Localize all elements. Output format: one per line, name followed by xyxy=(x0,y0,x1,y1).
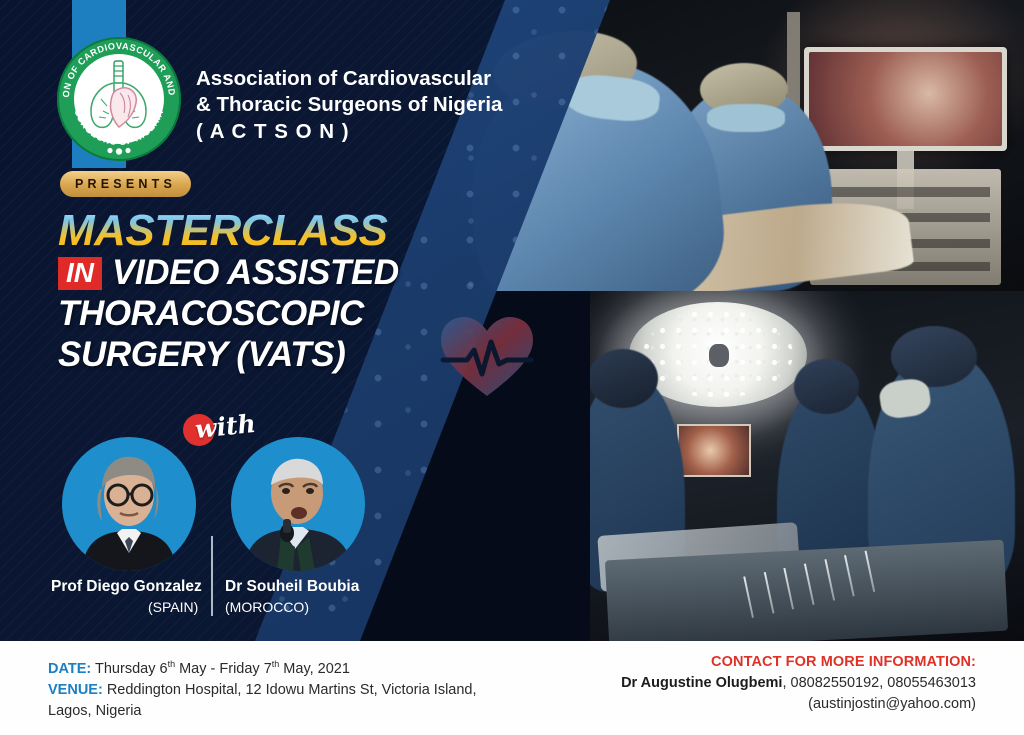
footer-event-details: DATE: Thursday 6th May - Friday 7th May,… xyxy=(48,654,477,722)
poster-title: MASTERCLASS IN VIDEO ASSISTED THORACOSCO… xyxy=(58,207,478,375)
venue-line-1: Reddington Hospital, 12 Idowu Martins St… xyxy=(107,682,477,698)
date-value-post: May, 2021 xyxy=(279,661,350,677)
organization-name: Association of Cardiovascular & Thoracic… xyxy=(196,66,502,146)
title-line-video-assisted: VIDEO ASSISTED xyxy=(112,253,399,293)
endoscopy-monitor-icon xyxy=(804,47,1007,152)
title-line-surgery-vats: SURGERY (VATS) xyxy=(58,334,478,375)
speaker-country-2: (MOROCCO) xyxy=(225,599,309,615)
speaker-photo-diego-gonzalez xyxy=(62,437,196,571)
venue-label: VENUE: xyxy=(48,682,103,698)
actson-logo: ASSOCIATION OF CARDIOVASCULAR AND THORAC… xyxy=(57,37,181,161)
contact-heading: CONTACT FOR MORE INFORMATION: xyxy=(621,652,976,673)
footer-venue-row: VENUE: Reddington Hospital, 12 Idowu Mar… xyxy=(48,680,477,701)
avatar xyxy=(62,437,196,571)
speaker-photo-souheil-boubia xyxy=(231,437,365,571)
presents-badge: PRESENTS xyxy=(60,171,191,197)
speaker-divider xyxy=(211,536,213,616)
contact-row: Dr Augustine Olugbemi, 08082550192, 0805… xyxy=(621,673,976,694)
speaker-country-1: (SPAIN) xyxy=(148,599,198,615)
contact-phones: , 08082550192, 08055463013 xyxy=(782,675,976,691)
contact-email: (austinjostin@yahoo.com) xyxy=(621,694,976,715)
venue-line-2: Lagos, Nigeria xyxy=(48,701,477,722)
avatar xyxy=(231,437,365,571)
speaker-name-2: Dr Souheil Boubia xyxy=(225,578,359,596)
event-poster: ASSOCIATION OF CARDIOVASCULAR AND THORAC… xyxy=(0,0,1024,735)
org-name-line2: & Thoracic Surgeons of Nigeria xyxy=(196,92,502,118)
footer-date-row: DATE: Thursday 6th May - Friday 7th May,… xyxy=(48,654,477,680)
footer-contact: CONTACT FOR MORE INFORMATION: Dr Augusti… xyxy=(621,652,976,715)
date-value-mid: May - Friday 7 xyxy=(175,661,272,677)
title-in-badge: IN xyxy=(58,257,102,290)
org-name-line1: Association of Cardiovascular xyxy=(196,66,502,92)
operating-theatre-photo xyxy=(590,291,1024,641)
thoracoscope-screen-icon xyxy=(677,424,751,477)
lungs-heart-icon xyxy=(81,59,157,139)
date-sup-1: th xyxy=(168,659,176,669)
date-value-pre: Thursday 6 xyxy=(95,661,168,677)
contact-name: Dr Augustine Olugbemi xyxy=(621,675,782,691)
org-acronym: ( A C T S O N ) xyxy=(196,118,502,146)
speaker-name-1: Prof Diego Gonzalez xyxy=(51,578,202,596)
title-line-thoracoscopic: THORACOSCOPIC xyxy=(58,293,478,334)
date-label: DATE: xyxy=(48,661,91,677)
poster-footer: DATE: Thursday 6th May - Friday 7th May,… xyxy=(0,641,1024,735)
title-masterclass: MASTERCLASS xyxy=(58,207,478,255)
